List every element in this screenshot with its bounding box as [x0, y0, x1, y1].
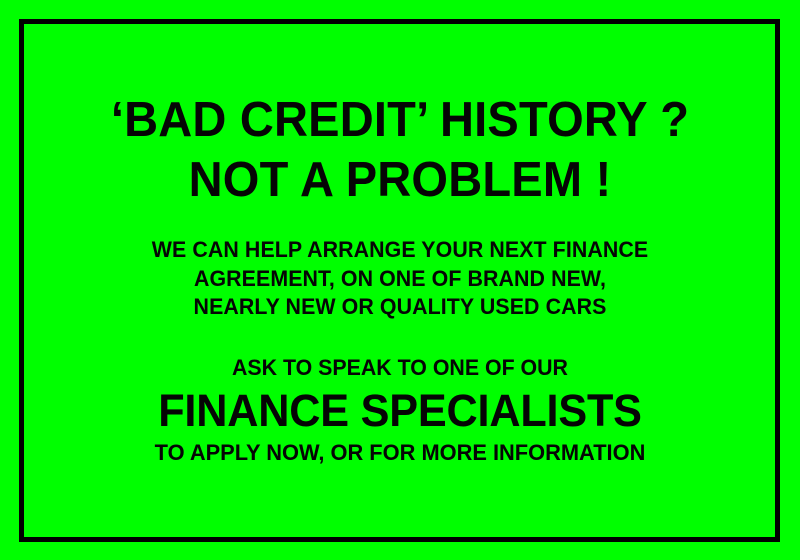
body-line-2: AGREEMENT, ON ONE OF BRAND NEW, — [12, 268, 788, 290]
headline-line-1: ‘BAD CREDIT’ HISTORY ? — [16, 96, 784, 145]
cta-main-heading: FINANCE SPECIALISTS — [16, 388, 784, 433]
advert-poster: ‘BAD CREDIT’ HISTORY ? NOT A PROBLEM ! W… — [0, 0, 800, 560]
headline-line-2: NOT A PROBLEM ! — [16, 156, 784, 205]
body-line-1: WE CAN HELP ARRANGE YOUR NEXT FINANCE — [12, 239, 788, 261]
body-line-3: NEARLY NEW OR QUALITY USED CARS — [12, 296, 788, 318]
cta-footer-text: TO APPLY NOW, OR FOR MORE INFORMATION — [12, 442, 788, 465]
cta-lead-text: ASK TO SPEAK TO ONE OF OUR — [12, 357, 788, 379]
